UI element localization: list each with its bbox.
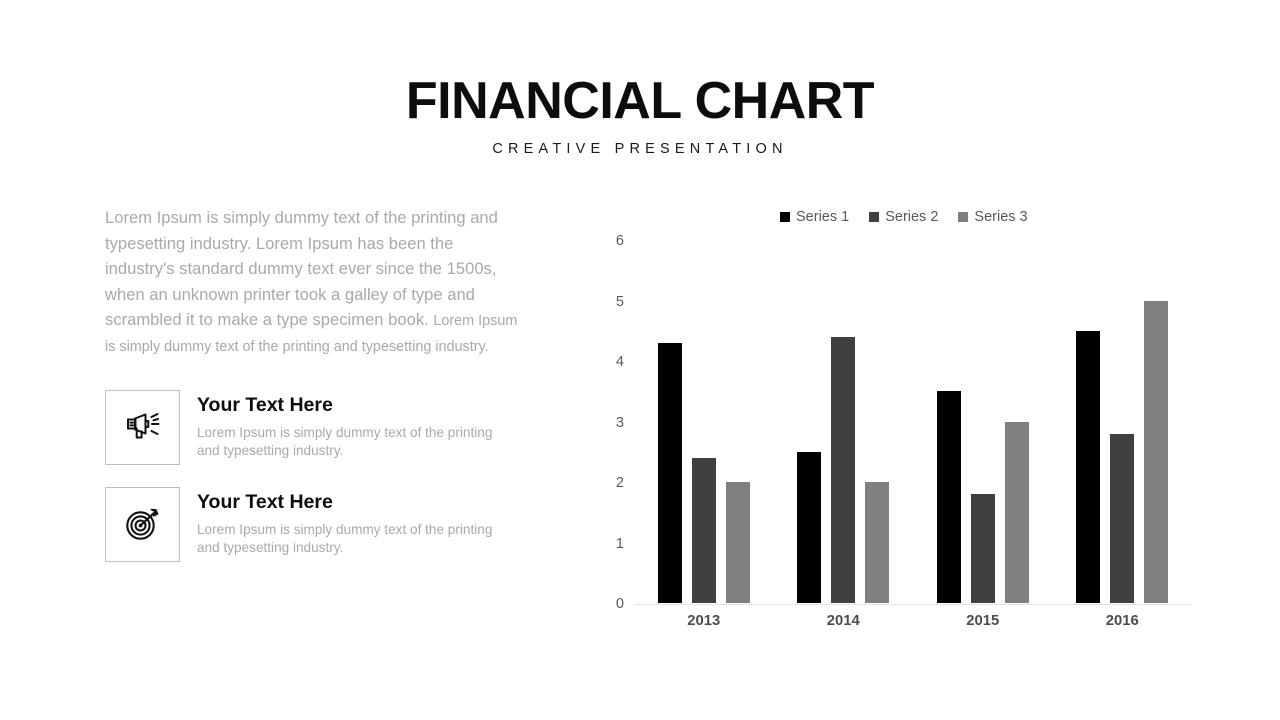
x-axis-tick-label: 2016: [1077, 613, 1167, 629]
bar[interactable]: [865, 482, 889, 603]
body-paragraph: Lorem Ipsum is simply dummy text of the …: [105, 205, 520, 361]
bar-group: [1053, 204, 1193, 604]
list-item[interactable]: Your Text Here Lorem Ipsum is simply dum…: [105, 390, 520, 465]
feature-description: Lorem Ipsum is simply dummy text of the …: [197, 521, 507, 557]
target-arrow-icon: [122, 503, 164, 545]
feature-description: Lorem Ipsum is simply dummy text of the …: [197, 424, 507, 460]
bar[interactable]: [1005, 422, 1029, 604]
bar[interactable]: [1076, 331, 1100, 603]
feature-title: Your Text Here: [197, 395, 507, 416]
bar[interactable]: [692, 458, 716, 603]
y-axis-tick-label: 3: [598, 416, 624, 431]
y-axis-tick-label: 5: [598, 295, 624, 310]
page-subtitle: CREATIVE PRESENTATION: [0, 141, 1280, 157]
y-axis-tick-label: 2: [598, 476, 624, 491]
bar-group: [634, 204, 774, 604]
bar[interactable]: [658, 343, 682, 603]
feature-icon-box: [105, 390, 180, 465]
feature-icon-box: [105, 487, 180, 562]
megaphone-icon: [122, 406, 164, 448]
y-axis-tick-label: 0: [598, 597, 624, 612]
y-axis-tick-label: 4: [598, 355, 624, 370]
bar[interactable]: [1144, 301, 1168, 604]
feature-title: Your Text Here: [197, 492, 507, 513]
bar[interactable]: [831, 337, 855, 603]
left-content-column: Lorem Ipsum is simply dummy text of the …: [105, 205, 520, 584]
feature-text-block: Your Text Here Lorem Ipsum is simply dum…: [197, 390, 507, 460]
y-axis-tick-label: 1: [598, 537, 624, 552]
bar[interactable]: [1110, 434, 1134, 603]
bar[interactable]: [797, 452, 821, 603]
x-axis-tick-label: 2014: [798, 613, 888, 629]
bar[interactable]: [937, 391, 961, 603]
page-title: FINANCIAL CHART: [0, 74, 1280, 129]
x-axis-tick-label: 2013: [659, 613, 749, 629]
chart-plot-area: 0123456 2013201420152016: [598, 205, 1198, 645]
y-axis-tick-label: 6: [598, 234, 624, 249]
body-paragraph-lead: Lorem Ipsum is simply dummy text of the …: [105, 208, 498, 329]
feature-text-block: Your Text Here Lorem Ipsum is simply dum…: [197, 487, 507, 557]
bar[interactable]: [971, 494, 995, 603]
list-item[interactable]: Your Text Here Lorem Ipsum is simply dum…: [105, 487, 520, 562]
bar-group: [774, 204, 914, 604]
bar-group: [913, 204, 1053, 604]
x-axis-tick-label: 2015: [938, 613, 1028, 629]
bar-chart: Series 1Series 2Series 3 0123456 2013201…: [598, 205, 1198, 645]
bar[interactable]: [726, 482, 750, 603]
chart-bars-layer: [634, 205, 1192, 605]
feature-list: Your Text Here Lorem Ipsum is simply dum…: [105, 390, 520, 562]
slide-header: FINANCIAL CHART CREATIVE PRESENTATION: [0, 74, 1280, 157]
